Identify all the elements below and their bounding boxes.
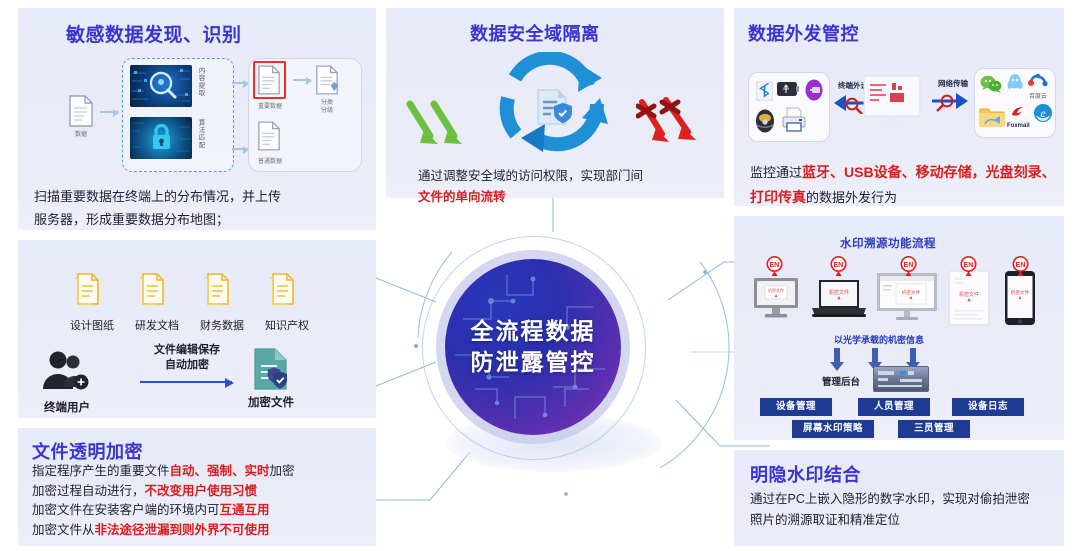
- baidu-cloud-icon: 百度云: [1027, 73, 1049, 100]
- te-line-0: 指定程序产生的重要文件自动、强制、实时加密: [32, 462, 372, 482]
- endpoint-monitor-icon: [860, 72, 924, 134]
- printer-icon: [781, 107, 807, 138]
- watermark-button-screen-policy[interactable]: 屏幕水印策略: [792, 420, 874, 438]
- watermark-description: 通过在PC上嵌入隐形的数字水印，实现对偷拍泄密 照片的溯源取证和精准定位: [750, 489, 1060, 531]
- panel-title-security-domain: 数据安全域隔离: [470, 20, 600, 46]
- svg-text:EN: EN: [1016, 262, 1026, 269]
- terminal-user-label: 终端用户: [38, 399, 96, 415]
- svg-text:机密文件: 机密文件: [1011, 289, 1030, 296]
- doc-type-2: 财务数据: [200, 272, 234, 333]
- server-icon: [873, 366, 929, 392]
- network-group-label: 网络传输: [938, 78, 968, 89]
- qq-icon: [1007, 73, 1023, 98]
- flow-arrow-2: [232, 82, 248, 84]
- stage-label-algorithm: 算法匹配: [196, 119, 204, 149]
- classified-data-icon: [315, 65, 339, 100]
- management-console-label: 管理后台: [822, 374, 860, 388]
- shared-folder-icon: [979, 105, 1005, 134]
- important-data-highlight-box: [253, 61, 286, 99]
- hub-label-line2: 防泄露管控: [471, 347, 596, 378]
- watermark-badge-0: EN: [766, 256, 783, 277]
- watermark-badge-1: EN: [830, 256, 847, 277]
- panel-title-sensitive-discovery: 敏感数据发现、识别: [66, 20, 242, 47]
- transparent-encryption-description: 指定程序产生的重要文件自动、强制、实时加密 加密过程自动进行，不改变用户使用习惯…: [32, 462, 372, 540]
- doc-type-label-0: 设计图纸: [70, 317, 104, 333]
- doc-type-1: 研发文档: [135, 272, 169, 333]
- panel-title-transparent-encryption: 文件透明加密: [32, 438, 143, 464]
- te-line-3: 加密文件从非法途径泄漏到则外界不可使用: [32, 521, 372, 541]
- important-data-label: 重要数据: [247, 101, 293, 110]
- usb-icon: [777, 81, 799, 102]
- ie-browser-icon: e: [1033, 103, 1053, 128]
- watermark-button-personnel-mgmt[interactable]: 人员管理: [858, 398, 930, 416]
- source-document-label: 数据: [62, 129, 100, 138]
- doc-type-0: 设计图纸: [70, 272, 104, 333]
- stage-label-extraction: 内容提取: [196, 67, 204, 97]
- watermark-mid-label: 以光学承载的机密信息: [834, 333, 924, 346]
- monitor-icon: 机密文件: [752, 276, 800, 327]
- tablet-icon: 机密文件: [948, 270, 990, 331]
- panel-title-watermark: 明隐水印结合: [750, 461, 861, 487]
- watermark-flow-title: 水印溯源功能流程: [840, 235, 936, 251]
- classification-label: 分类分级: [309, 99, 345, 115]
- encrypted-file-label: 加密文件: [248, 394, 294, 410]
- source-document-icon: [68, 95, 94, 132]
- flow-arrow-1: [100, 111, 118, 113]
- doc-type-3: 知识产权: [265, 272, 299, 333]
- encrypted-file-group: 加密文件: [248, 347, 294, 410]
- te-line-1: 加密过程自动进行，不改变用户使用习惯: [32, 482, 372, 502]
- watermark-badge-3: EN: [960, 256, 977, 277]
- phone-icon: 机密文件: [1004, 270, 1036, 331]
- foxmail-label: Foxmail: [1007, 123, 1030, 129]
- hub-label: 全流程数据 防泄露管控: [445, 259, 621, 435]
- svg-text:EN: EN: [964, 262, 974, 269]
- te-line-2: 加密文件在安装客户端的环境内可互通互用: [32, 501, 372, 521]
- bluetooth-icon: [756, 81, 773, 106]
- sensitive-discovery-diagram: 数据 内容提取 算法匹配: [60, 55, 360, 175]
- sensitive-discovery-description: 扫描重要数据在终端上的分布情况，并上传 服务器，形成重要数据分布地图；: [34, 185, 364, 231]
- foxmail-icon: Foxmail: [1007, 105, 1030, 129]
- svg-text:机密文件: 机密文件: [829, 289, 849, 296]
- network-icon-box: 百度云 Foxmail e: [974, 68, 1056, 138]
- flow-arrow-3: [232, 148, 248, 150]
- outbound-control-diagram: 终端外设 网络传输: [742, 62, 1062, 158]
- watermark-button-device-mgmt[interactable]: 设备管理: [760, 398, 832, 416]
- watermark-badge-2: EN: [900, 256, 917, 277]
- baidu-cloud-label: 百度云: [1027, 91, 1049, 100]
- svg-text:机密文件: 机密文件: [768, 287, 784, 293]
- svg-text:机密文件: 机密文件: [959, 291, 979, 298]
- algorithm-match-image: [130, 117, 192, 159]
- security-domain-cycle: [468, 52, 638, 160]
- encryption-flow-row: 终端用户 文件编辑保存 自动加密 加密文件: [30, 345, 360, 409]
- hub-label-line1: 全流程数据: [471, 316, 596, 347]
- encryption-arrow: [140, 381, 232, 383]
- infographic-canvas: 敏感数据发现、识别 数据 内容提取: [0, 0, 1080, 551]
- doc-type-label-3: 知识产权: [265, 317, 299, 333]
- doc-type-label-2: 财务数据: [200, 317, 234, 333]
- classification-box: 重要数据 普通数据 分类分级: [248, 58, 362, 172]
- allowed-flow-arrows: [404, 96, 466, 157]
- peripheral-icon-box: [748, 72, 830, 142]
- encryption-arrow-caption: 文件编辑保存 自动加密: [138, 343, 236, 373]
- content-extraction-image: [130, 65, 192, 107]
- security-domain-description: 通过调整安全域的访问权限，实现部门间 文件的单向流转: [418, 166, 718, 208]
- disc-icon: [755, 109, 775, 138]
- svg-text:机密文件: 机密文件: [902, 289, 921, 296]
- flow-arrow-4: [293, 79, 311, 81]
- blocked-flow-arrows: [636, 92, 702, 155]
- watermark-badge-4: EN: [1012, 256, 1029, 277]
- normal-data-icon: [257, 121, 281, 156]
- normal-data-label: 普通数据: [247, 156, 293, 165]
- portable-drive-icon: [805, 79, 823, 106]
- laptop-icon: 机密文件: [810, 278, 868, 325]
- network-flow-arrow: [930, 90, 972, 117]
- display-icon: 机密文件: [876, 272, 938, 327]
- svg-text:EN: EN: [904, 262, 914, 269]
- svg-text:EN: EN: [770, 262, 780, 269]
- doc-type-label-1: 研发文档: [135, 317, 169, 333]
- wechat-icon: [980, 75, 1002, 98]
- outbound-control-description: 监控通过蓝牙、USB设备、移动存储，光盘刻录、打印传真的数据外发行为: [750, 160, 1060, 210]
- panel-title-outbound-control: 数据外发管控: [748, 20, 859, 46]
- watermark-button-device-log[interactable]: 设备日志: [952, 398, 1024, 416]
- watermark-button-three-admin[interactable]: 三员管理: [898, 420, 970, 438]
- svg-text:EN: EN: [834, 262, 844, 269]
- central-hub: 全流程数据 防泄露管控: [398, 232, 708, 492]
- down-arrow-0: [830, 348, 844, 370]
- watermark-device-row: 机密文件 机密文件 机密文件: [752, 258, 1052, 330]
- terminal-user-group: 终端用户: [38, 349, 96, 415]
- svg-text:e: e: [1040, 106, 1046, 120]
